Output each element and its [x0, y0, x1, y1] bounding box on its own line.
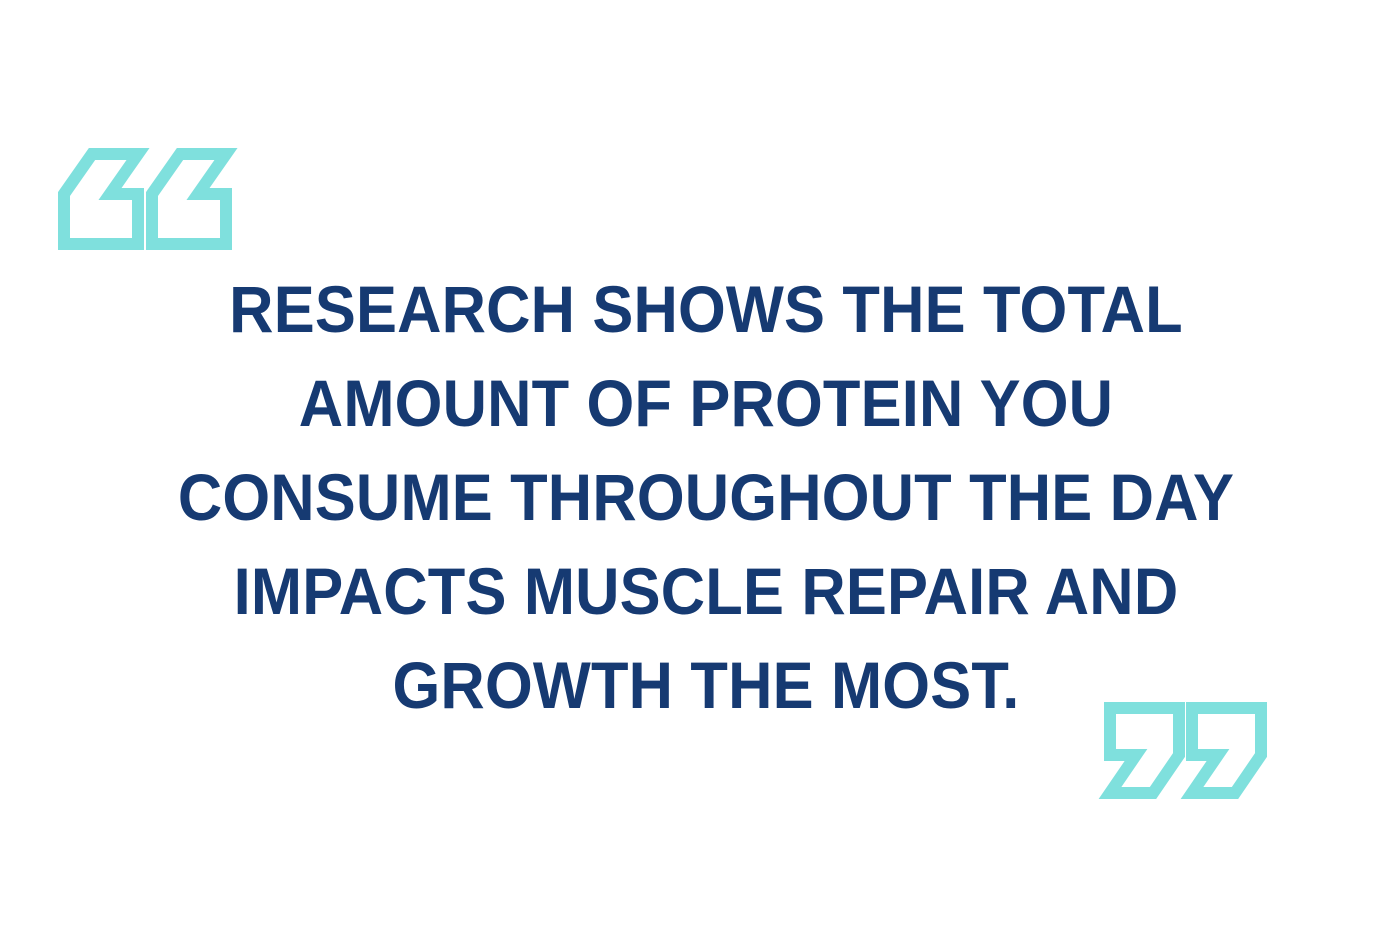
quote-line-2: AMOUNT OF PROTEIN YOU: [115, 356, 1298, 450]
close-quote-icon: [1104, 702, 1267, 799]
quote-line-1: RESEARCH SHOWS THE TOTAL: [115, 262, 1298, 356]
quote-card: RESEARCH SHOWS THE TOTAL AMOUNT OF PROTE…: [0, 0, 1400, 950]
quote-text-block: RESEARCH SHOWS THE TOTAL AMOUNT OF PROTE…: [115, 262, 1298, 732]
quote-line-4: IMPACTS MUSCLE REPAIR AND: [115, 544, 1298, 638]
quote-line-3: CONSUME THROUGHOUT THE DAY: [115, 450, 1298, 544]
open-quote-icon: [57, 147, 233, 251]
